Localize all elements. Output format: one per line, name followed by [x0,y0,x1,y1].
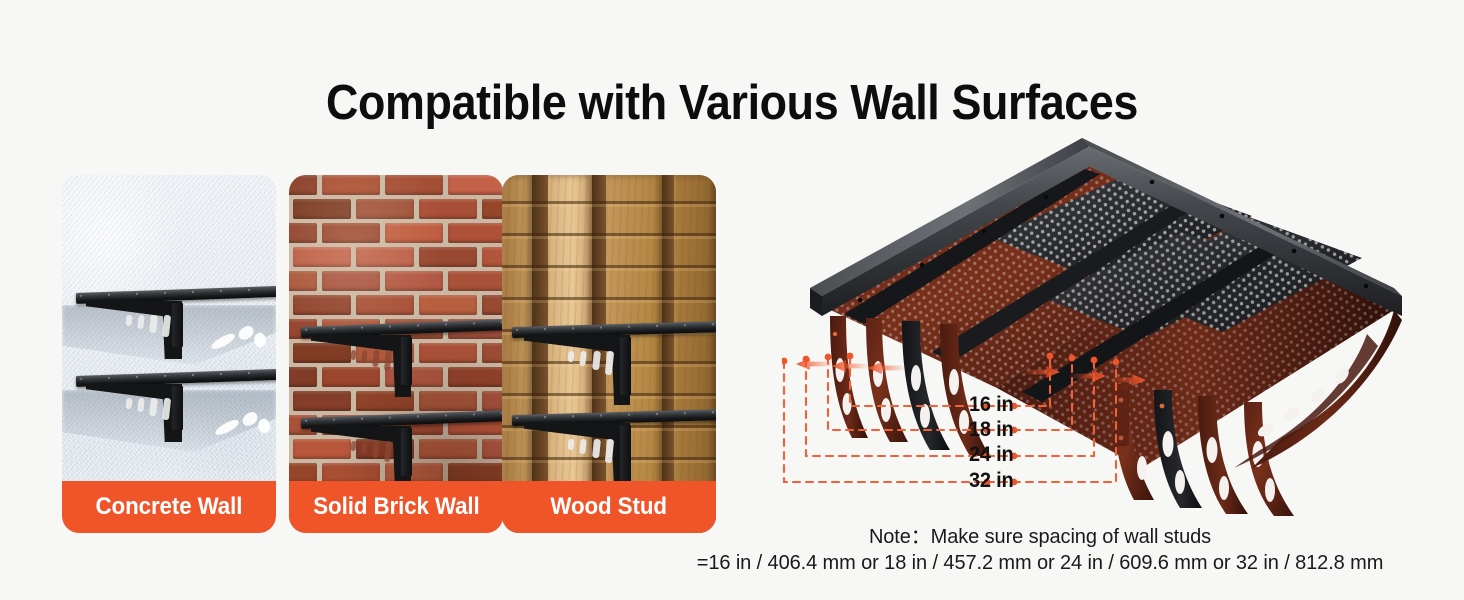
brick [419,391,477,411]
brick-row [289,199,503,223]
brick [482,247,503,267]
dim-line-32-left [784,361,987,482]
wood-stud-photo [502,175,716,533]
brick [289,223,317,243]
brick-row [289,271,503,295]
brick [322,271,380,291]
brick [293,295,351,315]
brick [385,175,443,195]
brick [448,223,503,243]
brick [448,463,503,483]
brick [322,463,380,483]
brick [293,391,351,411]
brick-wall-photo [289,175,503,533]
brick [385,271,443,291]
page-title: Compatible with Various Wall Surfaces [62,74,1402,132]
brick-row [289,223,503,247]
card-caption-wood: Wood Stud [502,481,716,533]
brick [482,343,503,363]
brick-row [289,295,503,319]
brick [385,367,443,387]
brick [482,439,503,459]
brick [356,199,414,219]
card-wood-stud: Wood Stud [502,175,716,533]
brick [482,199,503,219]
brick [289,463,317,483]
dim-line-16-left [850,356,987,406]
brick [293,343,351,363]
brick-row [289,247,503,271]
note-block: Note：Make sure spacing of wall studs =16… [640,524,1440,576]
dim-label-18: 18 in [969,418,1014,442]
brick [385,463,443,483]
brick [293,247,351,267]
brick [448,271,503,291]
brick [419,343,477,363]
spacing-arrows-right [1022,366,1146,386]
brick [482,295,503,315]
dim-label-24: 24 in [969,443,1014,467]
brick [293,439,351,459]
dim-endpoint-dots [782,353,1119,486]
brick [419,199,477,219]
card-caption-brick-text: Solid Brick Wall [313,493,479,521]
brick [322,367,380,387]
dim-line-24-left [806,359,987,456]
concrete-wall-photo [62,175,276,533]
brick-row [289,175,503,199]
brick [289,271,317,291]
note-line-1: Note：Make sure spacing of wall studs [640,524,1440,550]
stud-spacing-diagram: 16 in 18 in 24 in 32 in [782,330,1402,530]
card-caption-wood-text: Wood Stud [551,493,668,521]
card-solid-brick-wall: Solid Brick Wall [289,175,503,533]
brick [356,247,414,267]
brick [448,367,503,387]
brick [356,295,414,315]
brick [482,391,503,411]
dim-label-16: 16 in [969,393,1014,417]
card-concrete-wall: Concrete Wall [62,175,276,533]
dim-label-32: 32 in [969,469,1014,493]
brick [289,367,317,387]
card-caption-concrete-text: Concrete Wall [96,493,243,521]
brick [289,175,317,195]
brick [419,295,477,315]
brick [293,199,351,219]
brick [419,439,477,459]
card-caption-brick: Solid Brick Wall [289,481,503,533]
brick [385,223,443,243]
note-line-2: =16 in / 406.4 mm or 18 in / 457.2 mm or… [640,550,1440,576]
brick [322,223,380,243]
brick [448,175,503,195]
marketing-banner: Compatible with Various Wall Surfaces [0,0,1464,600]
brick [419,247,477,267]
card-caption-concrete: Concrete Wall [62,481,276,533]
brick [322,175,380,195]
